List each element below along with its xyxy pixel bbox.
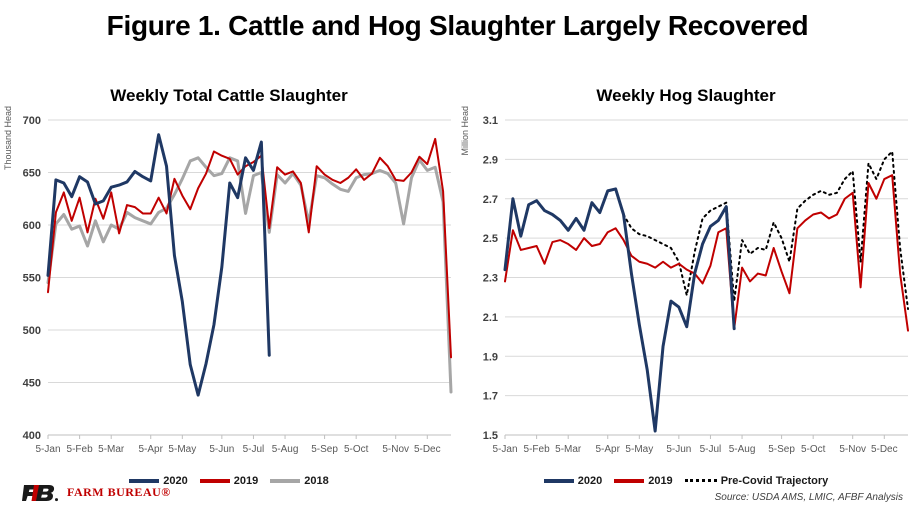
- x-tick-label: 5-Jan: [492, 444, 517, 455]
- x-tick-label: 5-Dec: [871, 444, 898, 455]
- y-tick-label: 2.5: [483, 233, 498, 245]
- chart-plot-hogs: 1.51.71.92.12.32.52.72.93.15-Jan5-Feb5-M…: [457, 78, 915, 498]
- y-tick-label: 2.1: [483, 312, 498, 324]
- legend-label: 2019: [648, 475, 672, 487]
- x-tick-label: 5-Aug: [729, 444, 756, 455]
- farm-bureau-logo: FARM BUREAU®: [22, 482, 171, 502]
- y-tick-label: 3.1: [483, 115, 498, 127]
- x-tick-label: 5-Oct: [344, 444, 369, 455]
- series-line-2019: [48, 139, 451, 357]
- x-tick-label: 5-Jan: [35, 444, 60, 455]
- y-tick-label: 600: [23, 220, 41, 232]
- series-line-2020: [48, 135, 269, 395]
- x-tick-label: 5-Apr: [595, 444, 620, 455]
- source-note: Source: USDA AMS, LMIC, AFBF Analysis: [715, 492, 903, 503]
- y-tick-label: 650: [23, 168, 41, 180]
- x-tick-label: 5-Jun: [209, 444, 234, 455]
- y-tick-label: 500: [23, 325, 41, 337]
- x-tick-label: 5-Jun: [666, 444, 691, 455]
- legend-item[interactable]: 2019: [200, 475, 258, 487]
- y-tick-label: 2.3: [483, 273, 498, 285]
- y-tick-label: 450: [23, 378, 41, 390]
- y-tick-label: 400: [23, 430, 41, 442]
- x-tick-label: 5-Feb: [67, 444, 94, 455]
- legend-swatch-icon: [200, 479, 230, 483]
- y-tick-label: 550: [23, 273, 41, 285]
- chart-panel-cattle: Weekly Total Cattle Slaughter Thousand H…: [0, 78, 458, 498]
- x-tick-label: 5-Jul: [243, 444, 265, 455]
- y-tick-label: 1.9: [483, 351, 498, 363]
- x-tick-label: 5-Dec: [414, 444, 441, 455]
- y-tick-label: 2.9: [483, 154, 498, 166]
- farm-bureau-wordmark: FARM BUREAU®: [67, 485, 171, 500]
- x-tick-label: 5-Nov: [382, 444, 409, 455]
- legend-label: 2019: [234, 475, 258, 487]
- x-tick-label: 5-Mar: [98, 444, 125, 455]
- legend-item[interactable]: 2019: [614, 475, 672, 487]
- x-tick-label: 5-Feb: [524, 444, 551, 455]
- x-tick-label: 5-Oct: [801, 444, 826, 455]
- legend-label: 2020: [578, 475, 602, 487]
- y-tick-label: 2.7: [483, 194, 498, 206]
- legend-label: 2018: [304, 475, 328, 487]
- legend-swatch-icon: [685, 479, 717, 482]
- x-tick-label: 5-Nov: [839, 444, 866, 455]
- y-tick-label: 1.5: [483, 430, 498, 442]
- series-line-2020: [505, 189, 734, 431]
- x-tick-label: 5-Apr: [138, 444, 163, 455]
- legend-swatch-icon: [614, 479, 644, 483]
- legend-item[interactable]: 2018: [270, 475, 328, 487]
- chart-panel-hogs: Weekly Hog Slaughter Million Head 1.51.7…: [457, 78, 915, 498]
- legend-item[interactable]: 2020: [544, 475, 602, 487]
- legend-label: Pre-Covid Trajectory: [721, 475, 829, 487]
- x-tick-label: 5-Jul: [700, 444, 722, 455]
- x-tick-label: 5-May: [168, 444, 196, 455]
- x-tick-label: 5-May: [625, 444, 653, 455]
- y-tick-label: 1.7: [483, 391, 498, 403]
- legend-swatch-icon: [270, 479, 300, 483]
- x-tick-label: 5-Aug: [272, 444, 299, 455]
- legend-swatch-icon: [544, 479, 574, 483]
- page-title: Figure 1. Cattle and Hog Slaughter Large…: [0, 10, 915, 42]
- legend-item[interactable]: Pre-Covid Trajectory: [685, 475, 829, 487]
- y-tick-label: 700: [23, 115, 41, 127]
- fb-mark-icon: [22, 482, 60, 502]
- chart-plot-cattle: 4004505005506006507005-Jan5-Feb5-Mar5-Ap…: [0, 78, 458, 498]
- x-tick-label: 5-Sep: [311, 444, 338, 455]
- x-tick-label: 5-Sep: [768, 444, 795, 455]
- x-tick-label: 5-Mar: [555, 444, 582, 455]
